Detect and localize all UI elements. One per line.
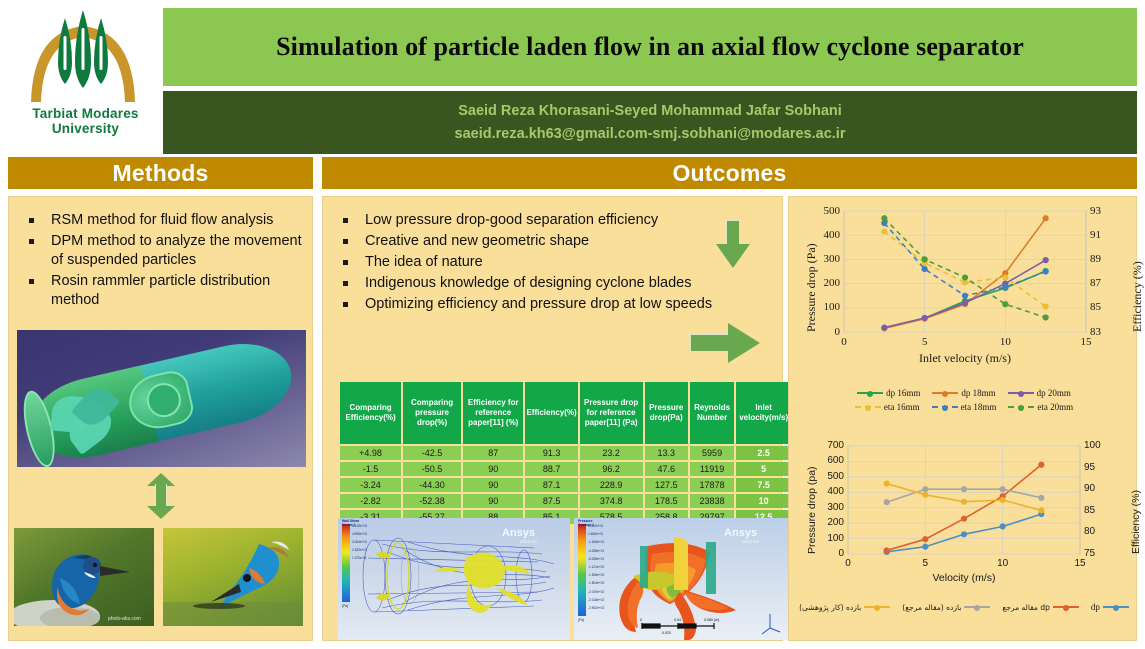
chart-dp-efficiency-vs-velocity-comparison: 0100200300400500600700758085909510005101… [796, 438, 1132, 598]
list-item: DPM method to analyze the movement of su… [25, 232, 302, 270]
y2-axis-tick-label: 85 [1090, 301, 1114, 313]
chart-data-point [884, 547, 890, 553]
table-cell: -3.24 [340, 478, 401, 492]
section-title-methods: Methods [113, 160, 209, 187]
legend-swatch [1103, 606, 1129, 608]
table-col-header: Reynolds Number [690, 382, 734, 444]
table-cell: -50.5 [403, 462, 461, 476]
chart-data-point [922, 536, 928, 542]
legend-marker [867, 391, 873, 397]
colorbar-title: PressureContour 1 [578, 519, 594, 527]
legend-marker [865, 405, 871, 411]
table-col-header: Pressure drop for reference paper[11] (P… [580, 382, 643, 444]
outcomes-bullet-list: Low pressure drop-good separation effici… [323, 197, 782, 314]
legend-label: بازده (کار پژوهشی) [799, 603, 861, 612]
colorbar-unit: [Pa] [342, 604, 348, 608]
list-item: Indigenous knowledge of designing cyclon… [339, 274, 772, 293]
table-cell: 91.3 [525, 446, 577, 460]
chart-data-point [881, 325, 887, 331]
table-cell: 178.5 [645, 494, 688, 508]
photo-credit: photo-aks.com [108, 616, 141, 622]
legend-item: بازده (کار پژوهشی) [799, 603, 890, 612]
th-text: Efficiency for reference paper[11] (%) [464, 398, 522, 428]
table-cell: -42.5 [403, 446, 461, 460]
x-axis-tick-label: 15 [1066, 558, 1094, 569]
chart-data-point [1000, 523, 1006, 529]
right-arrow-icon [690, 323, 760, 363]
legend-item: dp مقاله مرجع [1002, 603, 1079, 612]
legend-item: dp 16mm [857, 388, 920, 398]
table-cell: 17878 [690, 478, 734, 492]
colorbar-tick-labels: 6.128e+014.596e+013.064e+011.532e+011.37… [352, 522, 367, 562]
th-text: Pressure drop(Pa) [646, 403, 687, 423]
logo-text-line1: Tarbiat Modares [32, 106, 138, 121]
x-axis-tick-label: 5 [911, 558, 939, 569]
ansys-watermark: Ansys [724, 527, 757, 539]
y-axis-tick-label: 200 [818, 517, 844, 528]
chart-data-point [922, 486, 928, 492]
legend-label: dp [1091, 602, 1100, 612]
th-text: Comparing pressure drop(%) [404, 398, 460, 428]
y-axis-title: Pressure drop (pa) [806, 466, 818, 554]
logo-mark-icon [21, 6, 151, 106]
y-axis-title: Pressure drop (Pa) [804, 243, 819, 332]
table-cell: 5 [736, 462, 791, 476]
axis-triad-icon [762, 614, 780, 634]
table-row: -1.5-50.59088.796.247.6119195 [340, 462, 791, 476]
th-text: Comparing Efficiency(%) [341, 403, 400, 423]
table-row: -3.24-44.309087.1228.9127.5178787.5 [340, 478, 791, 492]
chart-data-point [962, 293, 968, 299]
legend-item: بازده (مقاله مرجع) [902, 603, 990, 612]
x-axis-title: Velocity (m/s) [848, 572, 1080, 584]
scale-bar [642, 623, 714, 629]
legend-marker [974, 605, 980, 611]
chart-data-point [962, 274, 968, 280]
table-row: +4.98-42.58791.323.213.359592.5 [340, 446, 791, 460]
y2-axis-tick-label: 90 [1084, 483, 1108, 494]
chart-data-point [961, 516, 967, 522]
y2-axis-tick-label: 87 [1090, 277, 1114, 289]
kingfisher-perched-photo: photo-aks.com [14, 528, 154, 626]
cfd-pressure-contour-blades-image: Ansys 2022 R2 0 0.04 0.080 (m) 0.020 5.0… [574, 518, 790, 640]
table-cell: 10 [736, 494, 791, 508]
y-axis-tick-label: 400 [814, 229, 840, 241]
x-axis-tick-label: 15 [1072, 336, 1100, 348]
chart-data-point [922, 256, 928, 262]
y-axis-tick-label: 700 [818, 440, 844, 451]
y2-axis-tick-label: 80 [1084, 526, 1108, 537]
table-cell: 87.1 [525, 478, 577, 492]
legend-marker [942, 391, 948, 397]
x-axis-tick-label: 10 [991, 336, 1019, 348]
svg-text:0.04: 0.04 [674, 618, 681, 622]
table-cell: 228.9 [580, 478, 643, 492]
chart-data-point [922, 544, 928, 550]
x-axis-tick-label: 0 [830, 336, 858, 348]
chart-data-point [884, 480, 890, 486]
chart-data-point [884, 499, 890, 505]
chart-data-point [961, 531, 967, 537]
down-arrow-icon [716, 220, 750, 268]
kingfisher-diving-photo [163, 528, 303, 626]
ansys-watermark-year: 2022 R2 [742, 539, 760, 544]
legend-marker [942, 405, 948, 411]
chart-data-point [1043, 268, 1049, 274]
x-axis-tick-label: 10 [989, 558, 1017, 569]
table-cell: 90 [463, 478, 523, 492]
svg-text:0: 0 [640, 618, 642, 622]
chart-data-point [1043, 257, 1049, 263]
chart-data-point [1038, 462, 1044, 468]
legend-label: dp 18mm [961, 388, 995, 398]
table-cell: 5959 [690, 446, 734, 460]
legend-label: dp 20mm [1037, 388, 1071, 398]
section-header-methods: Methods [8, 157, 313, 189]
x-axis-tick-label: 0 [834, 558, 862, 569]
legend-swatch [857, 392, 883, 394]
colorbar-tick-labels: 5.002e+011.606e+01-1.406e+01-4.008e+01-6… [588, 522, 604, 612]
table-cell: -44.30 [403, 478, 461, 492]
legend-swatch [932, 406, 958, 408]
chart-data-point [1002, 274, 1008, 280]
legend-marker [1018, 405, 1024, 411]
page-title: Simulation of particle laden flow in an … [276, 32, 1024, 62]
chart2-legend: dpdp مقاله مرجعبازده (مقاله مرجع)بازده (… [796, 602, 1132, 612]
colorbar-unit: [Pa] [578, 618, 584, 622]
chart-data-point [1002, 284, 1008, 290]
y-axis-tick-label: 500 [814, 205, 840, 217]
table-cell: -52.38 [403, 494, 461, 508]
chart-data-point [1043, 314, 1049, 320]
legend-label: eta 16mm [884, 402, 920, 412]
x-axis-tick-label: 5 [911, 336, 939, 348]
author-names: Saeid Reza Khorasani-Seyed Mohammad Jafa… [458, 103, 842, 119]
chart-data-point [1002, 301, 1008, 307]
ansys-watermark-year: 2022 R2 [520, 539, 538, 544]
y2-axis-tick-label: 100 [1084, 440, 1108, 451]
chart-data-point [881, 215, 887, 221]
chart-data-point [922, 266, 928, 272]
axial-cyclone-3d-geometry-image [17, 330, 306, 467]
svg-text:0.080 (m): 0.080 (m) [704, 618, 719, 622]
table-cell: 90 [463, 462, 523, 476]
section-header-outcomes: Outcomes [322, 157, 1137, 189]
table-col-header: Pressure drop(Pa) [645, 382, 688, 444]
legend-marker [874, 605, 880, 611]
y-axis-tick-label: 500 [818, 471, 844, 482]
table-cell: 88.7 [525, 462, 577, 476]
table-cell: 87.5 [525, 494, 577, 508]
table-col-header: Comparing Efficiency(%) [340, 382, 401, 444]
y2-axis-tick-label: 85 [1084, 505, 1108, 516]
legend-swatch [932, 392, 958, 394]
chart-data-point [1043, 215, 1049, 221]
th-text: Efficiency(%) [526, 408, 576, 418]
x-axis-title: Inlet velocity (m/s) [844, 351, 1086, 366]
th-text: Inlet velocity(m/s) [737, 403, 790, 423]
chart-data-point [1000, 497, 1006, 503]
y2-axis-title: Efficiency (%) [1130, 261, 1145, 332]
y2-axis-tick-label: 91 [1090, 229, 1114, 241]
svg-text:0.020: 0.020 [662, 631, 671, 635]
legend-item: dp 18mm [932, 388, 995, 398]
list-item: Low pressure drop-good separation effici… [339, 211, 772, 230]
table-cell: 87 [463, 446, 523, 460]
chart-data-point [1000, 486, 1006, 492]
chart-data-point [922, 315, 928, 321]
university-logo: Tarbiat Modares University [8, 6, 163, 154]
chart-data-point [1043, 303, 1049, 309]
chart-pressure-efficiency-vs-inlet-velocity: 0100200300400500838587899193051015Inlet … [796, 203, 1132, 378]
y2-axis-tick-label: 93 [1090, 205, 1114, 217]
section-title-outcomes: Outcomes [672, 160, 786, 187]
legend-label: dp 16mm [886, 388, 920, 398]
legend-label: dp مقاله مرجع [1002, 603, 1050, 612]
legend-swatch [1008, 392, 1034, 394]
list-item: RSM method for fluid flow analysis [25, 211, 302, 230]
legend-item: eta 20mm [1008, 402, 1073, 412]
y-axis-tick-label: 100 [818, 533, 844, 544]
chart-data-point [961, 499, 967, 505]
methods-bullet-list: RSM method for fluid flow analysis DPM m… [9, 197, 312, 310]
legend-swatch [855, 406, 881, 408]
chart-data-point [881, 228, 887, 234]
colorbar-legend [342, 524, 350, 602]
table-cell: 90 [463, 494, 523, 508]
poster-title-bar: Simulation of particle laden flow in an … [163, 8, 1137, 86]
table-body: +4.98-42.58791.323.213.359592.5-1.5-50.5… [340, 446, 791, 524]
table-cell: 127.5 [645, 478, 688, 492]
table-row: -2.82-52.389087.5374.8178.52383810 [340, 494, 791, 508]
th-text: Reynolds Number [691, 403, 733, 423]
chart-data-point [962, 300, 968, 306]
legend-label: eta 20mm [1037, 402, 1073, 412]
list-item: Creative and new geometric shape [339, 232, 772, 251]
legend-item: dp 20mm [1008, 388, 1071, 398]
y-axis-tick-label: 600 [818, 455, 844, 466]
colorbar-title: Wall ShearVector 1 [342, 519, 359, 527]
cfd-streamlines-cyclone-image: Ansys 2022 R2 6.128e+014.596e+013.064e+0… [338, 518, 570, 640]
y-axis-tick-label: 300 [818, 502, 844, 513]
chart-data-point [961, 486, 967, 492]
legend-item: dp [1091, 602, 1129, 612]
chart-data-point [922, 492, 928, 498]
table-cell: 11919 [690, 462, 734, 476]
y2-axis-title: Efficiency (%) [1130, 490, 1142, 554]
table-cell: 13.3 [645, 446, 688, 460]
table-cell: 374.8 [580, 494, 643, 508]
list-item: Rosin rammler particle distribution meth… [25, 272, 302, 310]
legend-marker [1113, 605, 1119, 611]
table-cell: 23.2 [580, 446, 643, 460]
legend-label: بازده (مقاله مرجع) [902, 603, 961, 612]
legend-swatch [964, 606, 990, 608]
legend-swatch [1053, 606, 1079, 608]
table-cell: 2.5 [736, 446, 791, 460]
y-axis-tick-label: 400 [818, 486, 844, 497]
table-cell: +4.98 [340, 446, 401, 460]
table-col-header: Comparing pressure drop(%) [403, 382, 461, 444]
legend-item: eta 18mm [932, 402, 997, 412]
bidirectional-arrow-icon [147, 473, 175, 519]
chart-data-point [1038, 495, 1044, 501]
cyclone-tube-graphic [24, 334, 297, 467]
author-emails: saeid.reza.kh63@gmail.com-smj.sobhani@mo… [455, 126, 846, 142]
table-cell: -1.5 [340, 462, 401, 476]
list-item: The idea of nature [339, 253, 772, 272]
legend-label: eta 18mm [961, 402, 997, 412]
table-cell: -2.82 [340, 494, 401, 508]
table-header-row: Comparing Efficiency(%) Comparing pressu… [340, 382, 791, 444]
legend-item: eta 16mm [855, 402, 920, 412]
logo-text-line2: University [32, 121, 138, 136]
table-cell: 23838 [690, 494, 734, 508]
author-bar: Saeid Reza Khorasani-Seyed Mohammad Jafa… [163, 91, 1137, 154]
chart1-legend: dp 16mmdp 18mmdp 20mm eta 16mmeta 18mmet… [796, 388, 1132, 412]
legend-marker [1018, 391, 1024, 397]
th-text: Pressure drop for reference paper[11] (P… [581, 398, 642, 428]
table-col-header: Efficiency(%) [525, 382, 577, 444]
ansys-watermark: Ansys [502, 527, 535, 539]
y2-axis-tick-label: 89 [1090, 253, 1114, 265]
legend-swatch [864, 606, 890, 608]
table-col-header: Inlet velocity(m/s) [736, 382, 791, 444]
legend-swatch [1008, 406, 1034, 408]
table-cell: 47.6 [645, 462, 688, 476]
table-col-header: Efficiency for reference paper[11] (%) [463, 382, 523, 444]
legend-marker [1063, 605, 1069, 611]
list-item: Optimizing efficiency and pressure drop … [339, 295, 772, 314]
y2-axis-tick-label: 95 [1084, 462, 1108, 473]
chart-data-point [1038, 507, 1044, 513]
results-table: Comparing Efficiency(%) Comparing pressu… [338, 380, 793, 526]
poster-canvas: Tarbiat Modares University Simulation of… [0, 0, 1145, 649]
table-cell: 7.5 [736, 478, 791, 492]
colorbar-legend [578, 524, 586, 616]
table-cell: 96.2 [580, 462, 643, 476]
